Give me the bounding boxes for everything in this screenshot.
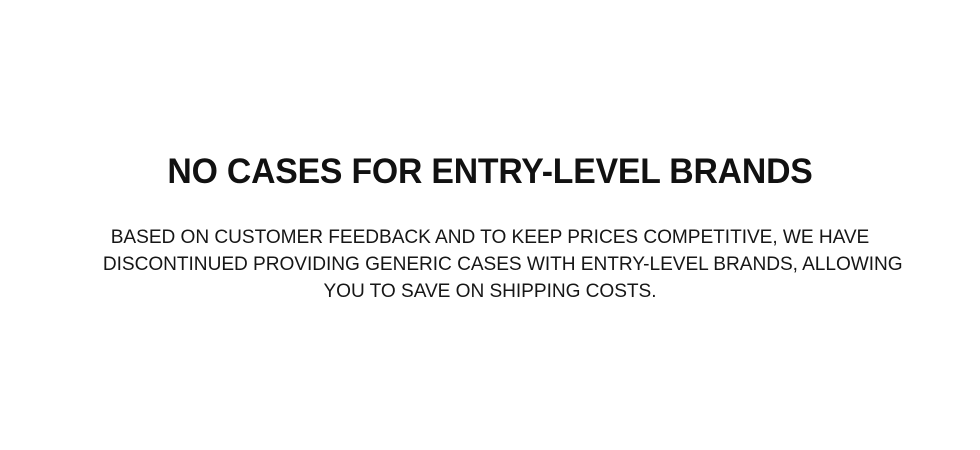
promo-banner-section: NO CASES FOR ENTRY-LEVEL BRANDS BASED ON… [0, 0, 980, 450]
promo-description-line-1: BASED ON CUSTOMER FEEDBACK AND TO KEEP P… [103, 224, 877, 251]
promo-description-line-2: DISCONTINUED PROVIDING GENERIC CASES WIT… [103, 251, 877, 278]
promo-description: BASED ON CUSTOMER FEEDBACK AND TO KEEP P… [103, 224, 877, 305]
page-title: NO CASES FOR ENTRY-LEVEL BRANDS [17, 151, 963, 193]
promo-content-wrapper: NO CASES FOR ENTRY-LEVEL BRANDS BASED ON… [0, 0, 980, 450]
promo-description-line-3: YOU TO SAVE ON SHIPPING COSTS. [103, 278, 877, 305]
